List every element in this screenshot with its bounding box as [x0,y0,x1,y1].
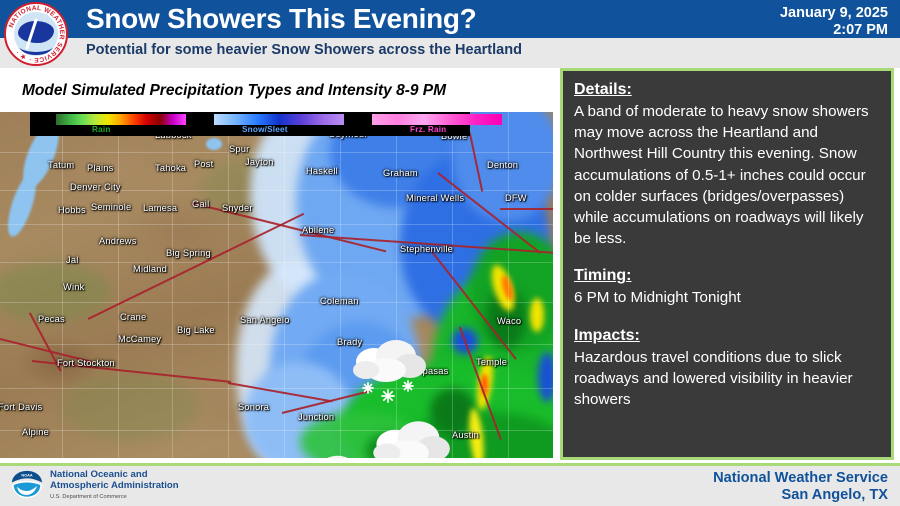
highway-line [500,208,553,210]
city-label: Lamesa [143,203,177,213]
office-name: National Weather Service [713,470,888,487]
snow-cloud-icon [348,334,432,415]
city-label: Hobbs [58,205,86,215]
city-label: Sonora [238,402,269,412]
city-label: Mineral Wells [406,193,464,203]
city-label: Snyder [222,203,253,213]
county-line [284,112,285,458]
city-label: San Angelo [240,315,290,325]
impacts-text: Hazardous travel conditions due to slick… [574,347,880,411]
city-label: McCamey [118,334,161,344]
legend-bar-freezing-rain [372,114,502,125]
map-title: Model Simulated Precipitation Types and … [22,82,446,100]
noaa-line-2: Atmospheric Administration [50,480,179,491]
city-label: Stephenville [400,244,453,254]
county-line [340,112,341,458]
county-line [0,152,553,153]
city-label: Post [194,159,213,169]
city-label: Temple [476,357,507,367]
timing-heading: Timing: [574,266,880,286]
legend-bar-snow [214,114,344,125]
page-subtitle: Potential for some heavier Snow Showers … [86,42,522,58]
impacts-heading: Impacts: [574,326,880,346]
svg-text:NATIONAL WEATHER SERVICE · ★ ·: NATIONAL WEATHER SERVICE · ★ · [8,5,65,63]
county-line [228,112,229,458]
page-title: Snow Showers This Evening? [86,3,476,35]
city-label: Fort Davis [0,402,42,412]
legend-label-freezing-rain: Frz. Rain [410,125,446,134]
city-label: Spur [229,144,249,154]
details-text: A band of moderate to heavy snow showers… [574,101,880,249]
legend-bar-rain [56,114,186,125]
county-line [452,112,453,458]
county-line [0,344,553,345]
precip-band-snow [538,352,553,402]
city-label: Midland [133,264,167,274]
legend-label-snow: Snow/Sleet [242,125,288,134]
city-label: Wink [63,282,84,292]
city-label: Coleman [320,296,359,306]
city-label: Tahoka [155,163,186,173]
office-identifier: National Weather Service San Angelo, TX [713,470,888,504]
office-location: San Angelo, TX [713,487,888,504]
precip-legend: Rain Snow/Sleet Frz. Rain [30,112,470,136]
city-label: Tatum [48,160,74,170]
snow-cloud-icon [368,415,456,458]
seal-ring-text: NATIONAL WEATHER SERVICE · ★ · [6,4,66,64]
city-label: Waco [497,316,521,326]
city-label: Denver City [70,182,121,192]
city-label: Jal [66,255,79,265]
city-label: Pecas [38,314,65,324]
spacer [574,249,880,266]
timing-text: 6 PM to Midnight Tonight [574,287,880,308]
noaa-logo: NOAA [10,470,44,500]
city-label: DFW [505,193,527,203]
county-line [118,112,119,458]
city-label: Junction [298,412,334,422]
datetime-stamp: January 9, 2025 2:07 PM [780,5,888,39]
svg-text:NOAA: NOAA [21,474,33,478]
city-label: Andrews [99,236,137,246]
details-heading: Details: [574,80,880,100]
city-label: Big Spring [166,248,211,258]
city-label: Graham [383,168,418,178]
snow-cloud-icon [292,450,372,458]
city-label: Gail [192,199,209,209]
noaa-line-1: National Oceanic and [50,469,179,480]
precipitation-map[interactable]: LubbockSpurGuthrieSeymourBowieTatumPlain… [0,112,553,458]
national-weather-service-seal: NATIONAL WEATHER SERVICE · ★ · [4,2,68,66]
city-label: Seminole [91,202,131,212]
city-label: Alpine [22,427,49,437]
spacer [574,309,880,326]
city-label: Plains [87,163,114,173]
legend-label-rain: Rain [92,125,111,134]
city-label: Big Lake [177,325,215,335]
details-panel: Details: A band of moderate to heavy sno… [560,68,894,460]
county-line [0,262,553,263]
city-label: Fort Stockton [57,358,115,368]
weather-graphic: NATIONAL WEATHER SERVICE · ★ · Snow Show… [0,0,900,506]
noaa-agency-text: National Oceanic and Atmospheric Adminis… [50,469,179,502]
city-label: Abilene [302,225,334,235]
noaa-department-text: U.S. Department of Commerce [50,493,179,502]
precip-band-intense [530,298,544,332]
county-line [0,388,553,389]
city-label: Jayton [245,157,274,167]
city-label: Crane [120,312,146,322]
city-label: Haskell [306,166,338,176]
city-label: Denton [487,160,518,170]
time-text: 2:07 PM [780,22,888,39]
date-text: January 9, 2025 [780,5,888,22]
